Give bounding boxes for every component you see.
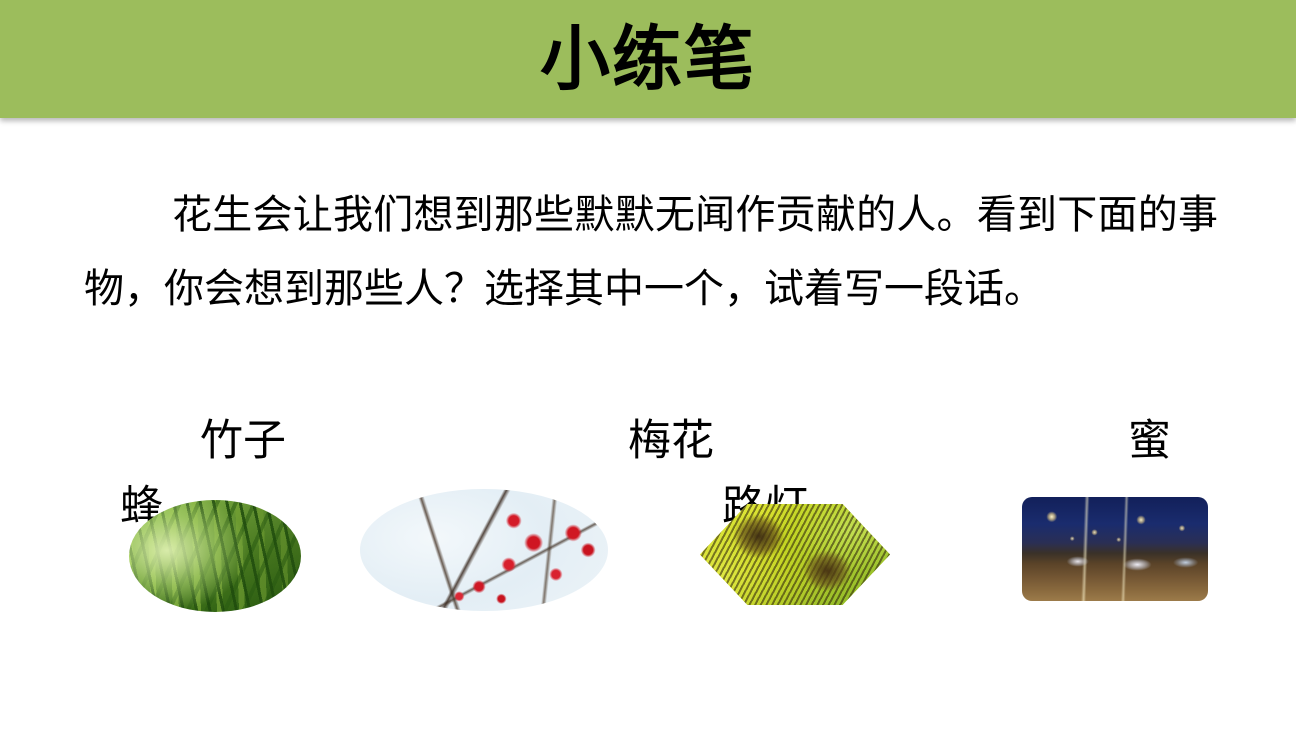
street-lamp-photo [1022, 497, 1208, 601]
plum-blossom-photo [360, 489, 608, 611]
object-labels-line-1: 竹子 梅花 蜜 [110, 408, 1218, 474]
page-title: 小练笔 [0, 0, 1296, 118]
label-bee-part1: 蜜 [1128, 408, 1171, 474]
instruction-paragraph: 花生会让我们想到那些默默无闻作贡献的人。看到下面的事物，你会想到那些人？选择其中… [84, 178, 1218, 326]
label-plum-blossom: 梅花 [628, 408, 714, 474]
bamboo-photo [129, 500, 301, 612]
slide-root: 小练笔 花生会让我们想到那些默默无闻作贡献的人。看到下面的事物，你会想到那些人？… [0, 0, 1296, 729]
label-bamboo: 竹子 [200, 408, 286, 474]
